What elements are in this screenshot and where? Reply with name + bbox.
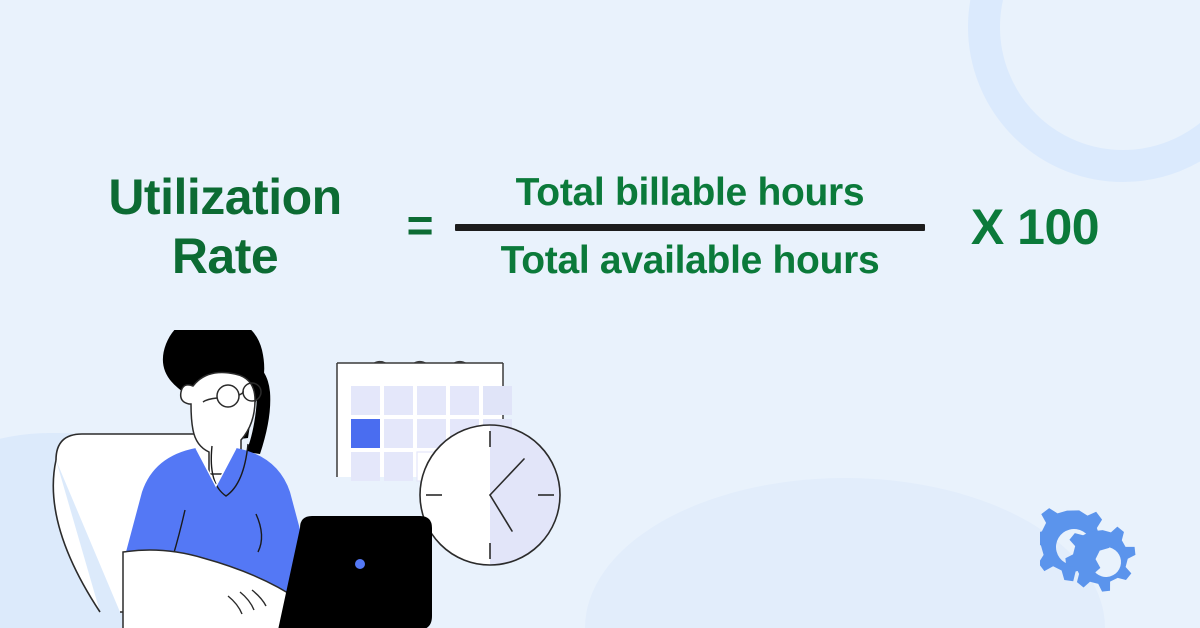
illustration [0, 330, 640, 628]
fraction-denominator: Total available hours [501, 238, 880, 284]
formula-multiplier: X 100 [930, 202, 1140, 252]
fraction-bar [455, 224, 925, 231]
formula-lhs-line-2: Rate [60, 227, 390, 286]
laptop-lid [278, 516, 432, 628]
formula-left-hand-side: Utilization Rate [60, 168, 390, 286]
utilization-rate-formula: Utilization Rate = Total billable hours … [0, 168, 1200, 286]
woman-illustration [123, 330, 306, 628]
gear-small-icon [1063, 525, 1139, 595]
equals-sign: = [390, 202, 450, 252]
two-gears-icon [1040, 504, 1150, 600]
clock-illustration [420, 425, 560, 565]
fraction-numerator: Total billable hours [516, 170, 865, 216]
formula-fraction: Total billable hours Total available hou… [450, 170, 930, 283]
graphic-canvas: Utilization Rate = Total billable hours … [0, 0, 1200, 628]
laptop-logo-dot [355, 559, 365, 569]
decorative-ring-top-right [968, 0, 1200, 182]
calendar-cell-selected [351, 419, 380, 448]
decorative-blob-bottom-right [585, 478, 1105, 628]
laptop-illustration [278, 516, 432, 628]
formula-lhs-line-1: Utilization [60, 168, 390, 227]
